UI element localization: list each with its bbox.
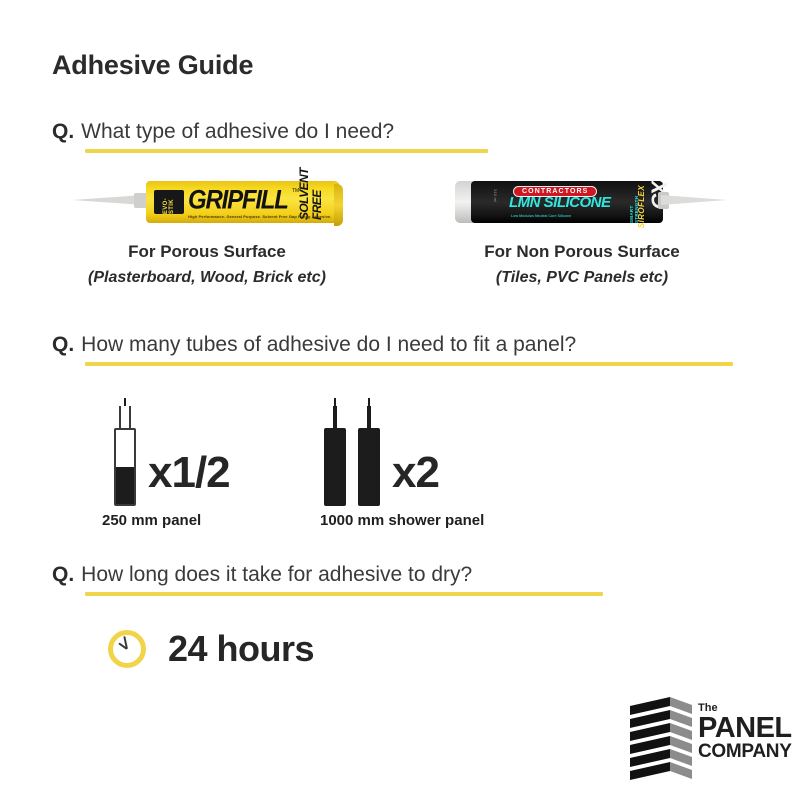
question-line-3: Q. How long does it take for adhesive to… [52,563,603,587]
tube-count-label-1000mm: 1000 mm shower panel [320,512,484,529]
question-underline-1 [85,149,488,153]
question-text-2: How many tubes of adhesive do I need to … [81,333,576,357]
gripfill-fine-print: High Performance. General Purpose. Solve… [188,214,331,219]
half-tube-body [114,428,136,506]
question-text-3: How long does it take for adhesive to dr… [81,563,472,587]
tube-count-value-1000mm: x2 [392,448,439,498]
lmn-silicone-tube: 310 ml CONTRACTORS LMN SILICONE Low Modu… [455,178,730,230]
two-tubes-icon-second [354,398,384,506]
caption-non-porous-title: For Non Porous Surface [412,242,752,262]
logo-wordmark: The PANEL COMPANY [698,703,792,761]
question-underline-3 [85,592,603,596]
lmn-range-label: SIROFLEX [637,185,646,228]
logo-company: COMPANY [698,742,792,761]
gripfill-brand-label: GRIPFILL [188,187,288,214]
logo-panel: PANEL [698,715,792,742]
tube-nozzle-icon-1 [333,406,337,428]
gripfill-maker-label: EVO-STIK [154,190,184,214]
tube-count-label-250mm: 250 mm panel [102,512,201,529]
question-text-1: What type of adhesive do I need? [81,120,394,144]
question-marker-1: Q. [52,120,74,144]
question-marker-2: Q. [52,333,74,357]
question-block-2: Q. How many tubes of adhesive do I need … [52,333,733,366]
dry-time-answer: 24 hours [108,628,314,670]
half-tube-icon [108,398,142,506]
question-block-1: Q. What type of adhesive do I need? [52,120,488,153]
lmn-nozzle-icon [661,195,727,205]
caption-porous-title: For Porous Surface [37,242,377,262]
tube-nozzle-icon-2 [367,406,371,428]
tube-count-value-250mm: x1/2 [148,448,230,498]
lmn-brand-label: LMN SILICONE [509,195,611,210]
tube-body-1 [324,428,346,506]
page-title: Adhesive Guide [52,50,253,81]
tube-body-2 [358,428,380,506]
lmn-fine-print: Low Modulus Neutral Cure Silicone [511,214,571,218]
tube-count-group-250mm: x1/2 250 mm panel [100,398,260,528]
question-underline-2 [85,362,733,366]
two-tubes-icon-first [320,398,350,506]
lmn-side-text: 310 ml [493,189,498,202]
question-marker-3: Q. [52,563,74,587]
question-line-2: Q. How many tubes of adhesive do I need … [52,333,733,357]
caption-non-porous-detail: (Tiles, PVC Panels etc) [412,269,752,287]
gripfill-adhesive-tube: EVO-STIK GRIPFILL TM SOLVENT FREE High P… [72,178,342,230]
dry-time-value: 24 hours [168,628,314,670]
half-tube-fill [116,467,134,504]
clock-icon [108,630,146,668]
caption-porous-detail: (Plasterboard, Wood, Brick etc) [37,269,377,287]
tube-count-group-1000mm: x2 1000 mm shower panel [320,398,580,528]
question-block-3: Q. How long does it take for adhesive to… [52,563,603,596]
lmn-body: 310 ml CONTRACTORS LMN SILICONE Low Modu… [471,181,663,223]
brand-logo: The PANEL COMPANY [630,697,782,782]
caption-non-porous: For Non Porous Surface (Tiles, PVC Panel… [412,242,752,287]
stacked-panels-logo [630,697,692,782]
half-tube-nozzle-icon [119,406,131,428]
gripfill-body: EVO-STIK GRIPFILL TM SOLVENT FREE High P… [146,181,340,223]
question-line-1: Q. What type of adhesive do I need? [52,120,488,144]
caption-porous: For Porous Surface (Plasterboard, Wood, … [37,242,377,287]
infographic-page: Adhesive Guide Q. What type of adhesive … [0,0,800,800]
